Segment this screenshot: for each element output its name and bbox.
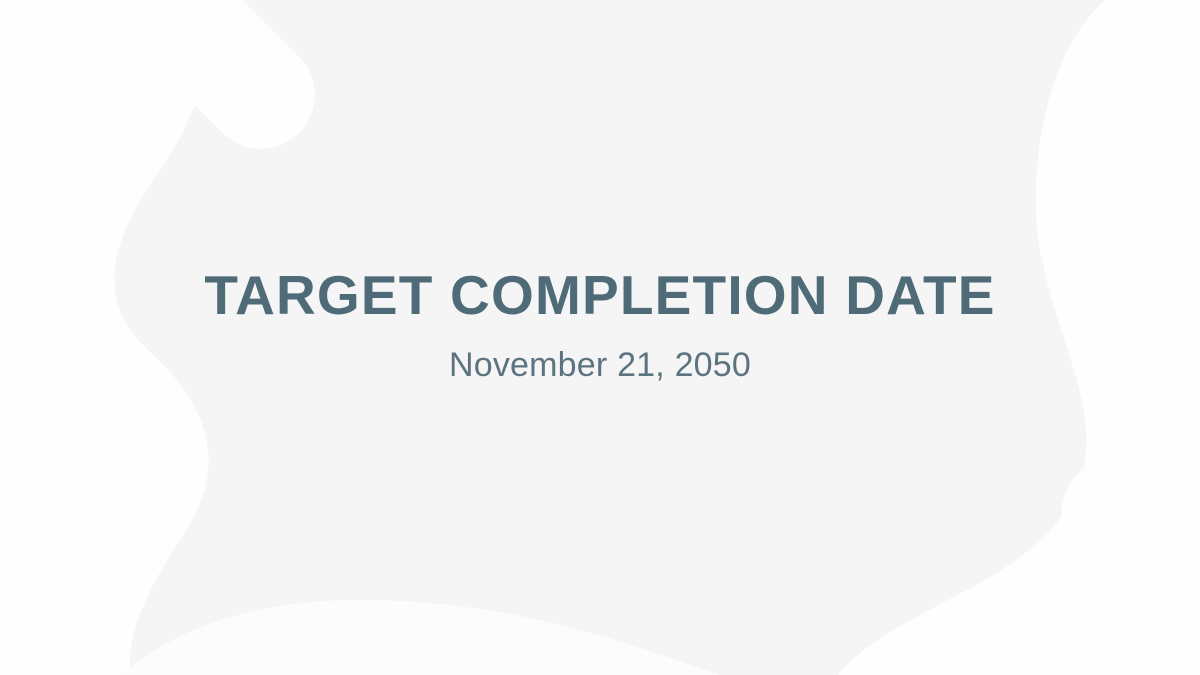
page-title: TARGET COMPLETION DATE (204, 267, 995, 325)
page-subtitle: November 21, 2050 (449, 347, 751, 384)
slide-canvas: TARGET COMPLETION DATE November 21, 2050 (0, 0, 1200, 675)
slide-content: TARGET COMPLETION DATE November 21, 2050 (0, 0, 1200, 675)
